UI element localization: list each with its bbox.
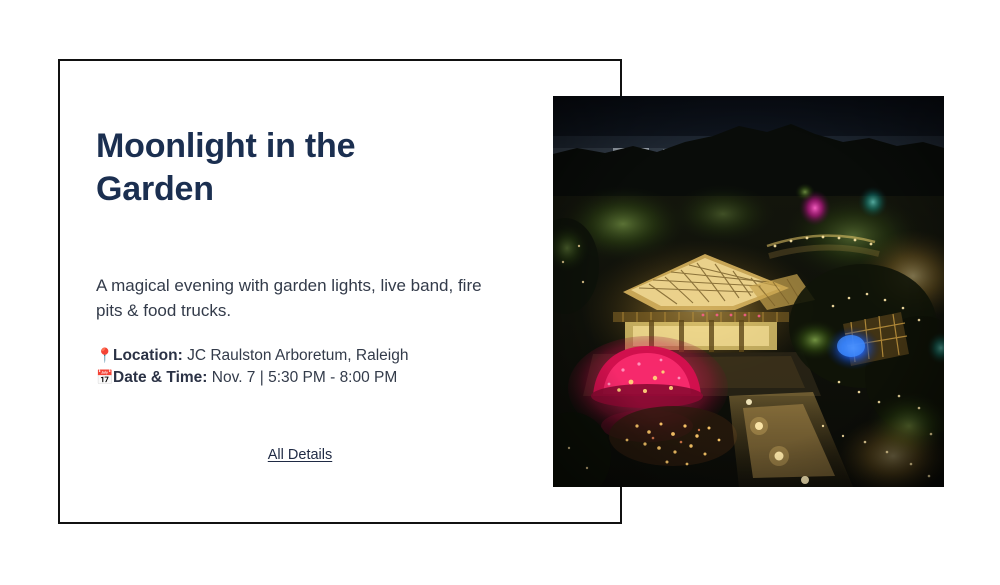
night-garden-photo	[553, 96, 944, 487]
page-title: Moonlight in the Garden	[96, 125, 396, 211]
details-link-container: All Details	[96, 390, 504, 464]
event-photo	[553, 96, 944, 487]
event-description: A magical evening with garden lights, li…	[96, 211, 496, 323]
location-label: Location:	[113, 347, 183, 364]
calendar-icon: 📅	[96, 367, 113, 387]
all-details-link[interactable]: All Details	[268, 447, 332, 463]
event-text-column: Moonlight in the Garden A magical evenin…	[96, 125, 506, 464]
round-pushpin-icon: 📍	[96, 345, 113, 365]
event-location-row: 📍Location: JC Raulston Arboretum, Raleig…	[96, 345, 506, 367]
event-meta: 📍Location: JC Raulston Arboretum, Raleig…	[96, 323, 506, 390]
location-value: JC Raulston Arboretum, Raleigh	[187, 347, 408, 364]
event-datetime-row: 📅Date & Time: Nov. 7 | 5:30 PM - 8:00 PM	[96, 367, 506, 389]
datetime-label: Date & Time:	[113, 369, 207, 386]
datetime-value: Nov. 7 | 5:30 PM - 8:00 PM	[212, 369, 398, 386]
